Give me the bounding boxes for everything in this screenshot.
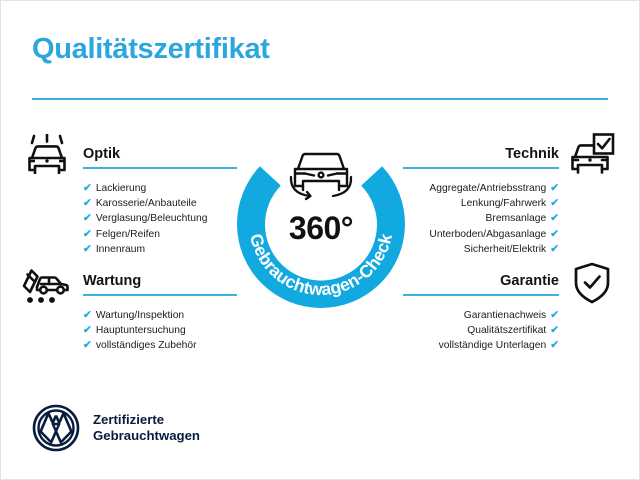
list-item: ✔Wartung/Inspektion xyxy=(83,308,233,323)
list-item-label: Bremsanlage xyxy=(486,213,547,224)
list-item: ✔Hauptuntersuchung xyxy=(83,323,233,338)
car-checkbox-icon xyxy=(567,132,615,181)
list-item-label: vollständige Unterlagen xyxy=(439,340,547,351)
list-item: ✔Felgen/Reifen xyxy=(83,227,233,242)
list-item: Garantienachweis✔ xyxy=(407,308,559,323)
list-item: Bremsanlage✔ xyxy=(407,211,559,226)
list-item: Unterboden/Abgasanlage✔ xyxy=(407,227,559,242)
section-title-wartung: Wartung xyxy=(83,271,233,291)
checklist-wartung: ✔Wartung/Inspektion ✔Hauptuntersuchung ✔… xyxy=(83,308,233,354)
list-item: ✔vollständiges Zubehör xyxy=(83,338,233,353)
title-divider xyxy=(32,98,608,100)
list-item: ✔Verglasung/Beleuchtung xyxy=(83,211,233,226)
section-optik: Optik ✔Lackierung ✔Karosserie/Anbauteile… xyxy=(83,144,233,257)
list-item-label: Felgen/Reifen xyxy=(96,229,160,240)
car-pen-service-icon xyxy=(21,262,71,311)
list-item-label: Innenraum xyxy=(96,244,145,255)
list-item-label: Verglasung/Beleuchtung xyxy=(96,213,208,224)
check-icon: ✔ xyxy=(550,182,559,194)
footer-line-2: Gebrauchtwagen xyxy=(93,428,200,445)
section-wartung: Wartung ✔Wartung/Inspektion ✔Hauptunters… xyxy=(83,271,233,354)
section-header-optik: Optik xyxy=(83,144,233,170)
volkswagen-logo xyxy=(32,404,80,452)
list-item-label: Garantienachweis xyxy=(464,310,546,321)
list-item: Lenkung/Fahrwerk✔ xyxy=(407,196,559,211)
checklist-garantie: Garantienachweis✔ Qualitätszertifikat✔ v… xyxy=(407,308,559,354)
section-header-garantie: Garantie xyxy=(407,271,559,297)
check-icon: ✔ xyxy=(550,243,559,255)
section-title-optik: Optik xyxy=(83,144,233,164)
footer-text: Zertifizierte Gebrauchtwagen xyxy=(93,412,200,445)
list-item-label: Lackierung xyxy=(96,183,146,194)
list-item-label: Karosserie/Anbauteile xyxy=(96,198,197,209)
section-underline-wartung xyxy=(83,294,233,296)
gebrauchtwagen-check-badge: Gebrauchtwagen-Check xyxy=(223,119,419,315)
section-technik: Technik Aggregate/Antriebsstrang✔ Lenkun… xyxy=(407,144,559,257)
list-item: Sicherheit/Elektrik✔ xyxy=(407,242,559,257)
car-shine-icon xyxy=(23,134,71,183)
list-item-label: Aggregate/Antriebsstrang xyxy=(429,183,546,194)
section-header-technik: Technik xyxy=(407,144,559,170)
section-garantie: Garantie Garantienachweis✔ Qualitätszert… xyxy=(407,271,559,354)
check-icon: ✔ xyxy=(550,212,559,224)
shield-check-icon xyxy=(571,261,613,310)
list-item-label: Sicherheit/Elektrik xyxy=(464,244,546,255)
section-underline-garantie xyxy=(407,294,559,296)
check-icon: ✔ xyxy=(550,197,559,209)
list-item: ✔Lackierung xyxy=(83,181,233,196)
check-icon: ✔ xyxy=(83,324,92,336)
section-header-wartung: Wartung xyxy=(83,271,233,297)
list-item-label: Wartung/Inspektion xyxy=(96,310,184,321)
certificate-page: Qualitätszertifikat xyxy=(1,1,639,479)
list-item-label: Unterboden/Abgasanlage xyxy=(429,229,546,240)
check-icon: ✔ xyxy=(550,309,559,321)
car-rotate-icon xyxy=(291,154,351,199)
check-icon: ✔ xyxy=(550,324,559,336)
section-title-technik: Technik xyxy=(407,144,559,164)
list-item: ✔Innenraum xyxy=(83,242,233,257)
check-icon: ✔ xyxy=(550,339,559,351)
check-icon: ✔ xyxy=(83,228,92,240)
list-item: vollständige Unterlagen✔ xyxy=(407,338,559,353)
check-icon: ✔ xyxy=(83,339,92,351)
list-item-label: Hauptuntersuchung xyxy=(96,325,186,336)
list-item-label: Qualitätszertifikat xyxy=(467,325,546,336)
list-item: Qualitätszertifikat✔ xyxy=(407,323,559,338)
check-icon: ✔ xyxy=(83,212,92,224)
footer-brand: Zertifizierte Gebrauchtwagen xyxy=(32,404,200,452)
check-icon: ✔ xyxy=(83,197,92,209)
footer-line-1: Zertifizierte xyxy=(93,412,200,429)
list-item-label: Lenkung/Fahrwerk xyxy=(461,198,546,209)
section-title-garantie: Garantie xyxy=(407,271,559,291)
section-underline-technik xyxy=(407,167,559,169)
list-item: Aggregate/Antriebsstrang✔ xyxy=(407,181,559,196)
page-title: Qualitätszertifikat xyxy=(32,33,270,66)
check-icon: ✔ xyxy=(83,243,92,255)
checklist-technik: Aggregate/Antriebsstrang✔ Lenkung/Fahrwe… xyxy=(407,181,559,257)
section-underline-optik xyxy=(83,167,233,169)
check-icon: ✔ xyxy=(83,182,92,194)
check-icon: ✔ xyxy=(83,309,92,321)
list-item: ✔Karosserie/Anbauteile xyxy=(83,196,233,211)
check-icon: ✔ xyxy=(550,228,559,240)
checklist-optik: ✔Lackierung ✔Karosserie/Anbauteile ✔Verg… xyxy=(83,181,233,257)
list-item-label: vollständiges Zubehör xyxy=(96,340,197,351)
